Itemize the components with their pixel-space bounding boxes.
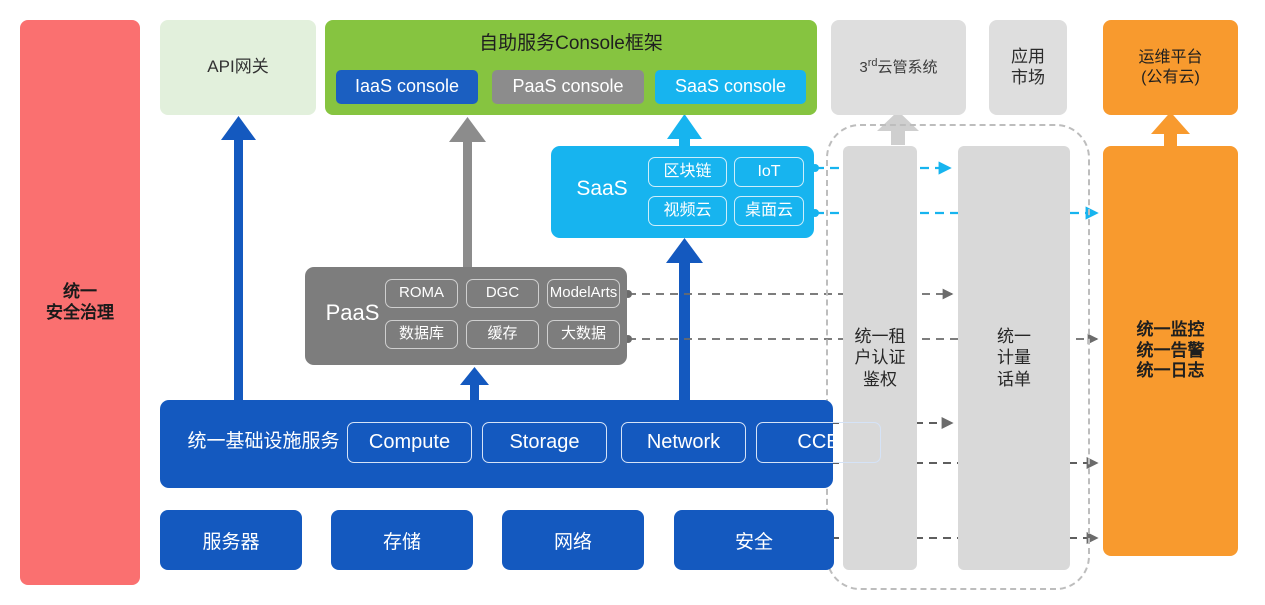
paas-chip-bigdata[interactable]: 大数据 — [547, 320, 620, 349]
unified-metering-label: 统一 计量 话单 — [997, 326, 1031, 390]
architecture-diagram: 统一 安全治理 API网关 自助服务Console框架 IaaS console… — [0, 0, 1265, 605]
unified-infrastructure-label: 统一基础设施服务 — [176, 430, 351, 453]
unified-tenant-auth-column: 统一租 户认证 鉴权 — [843, 146, 917, 570]
arrow-ops-tall-to-ops-top — [1151, 112, 1190, 146]
ops-platform-monitoring-panel: 统一监控 统一告警 统一日志 — [1103, 146, 1238, 556]
infra-chip-network[interactable]: Network — [621, 422, 746, 463]
paas-chip-roma[interactable]: ROMA — [385, 279, 458, 308]
third-party-cloud-label: 3rd云管系统 — [859, 57, 937, 77]
iaas-console-chip[interactable]: IaaS console — [336, 70, 478, 104]
infra-chip-storage[interactable]: Storage — [482, 422, 607, 463]
paas-chip-modelarts[interactable]: ModelArts — [547, 279, 620, 308]
unified-infrastructure-service-bar: 统一基础设施服务 Compute Storage Network CCE — [160, 400, 833, 488]
unified-tenant-auth-label: 统一租 户认证 鉴权 — [855, 326, 906, 390]
self-service-console-frame: 自助服务Console框架 IaaS console PaaS console … — [325, 20, 817, 115]
console-frame-title: 自助服务Console框架 — [325, 32, 817, 55]
app-market-box[interactable]: 应用 市场 — [989, 20, 1067, 115]
ops-platform-public-cloud-box[interactable]: 运维平台 (公有云) — [1103, 20, 1238, 115]
saas-chip-iot[interactable]: IoT — [734, 157, 804, 187]
app-market-label: 应用 市场 — [1011, 47, 1045, 88]
resource-box-network[interactable]: 网络 — [502, 510, 644, 570]
unified-security-governance-label: 统一 安全治理 — [46, 282, 114, 323]
infra-chip-cce[interactable]: CCE — [756, 422, 881, 463]
arrow-infra-to-saas — [666, 238, 703, 400]
ops-platform-tall-label: 统一监控 统一告警 统一日志 — [1137, 320, 1205, 382]
ops-platform-top-label: 运维平台 (公有云) — [1138, 48, 1202, 87]
resource-box-security[interactable]: 安全 — [674, 510, 834, 570]
saas-chip-blockchain[interactable]: 区块链 — [648, 157, 727, 187]
resource-box-server[interactable]: 服务器 — [160, 510, 302, 570]
api-gateway-label: API网关 — [207, 57, 268, 78]
paas-chip-cache[interactable]: 缓存 — [466, 320, 539, 349]
api-gateway-box[interactable]: API网关 — [160, 20, 316, 115]
arrow-paas-to-console — [449, 117, 486, 267]
saas-layer-label: SaaS — [563, 176, 641, 202]
infra-chip-compute[interactable]: Compute — [347, 422, 472, 463]
third-party-cloud-management-box[interactable]: 3rd云管系统 — [831, 20, 966, 115]
unified-security-governance-panel: 统一 安全治理 — [20, 20, 140, 585]
resource-box-storage[interactable]: 存储 — [331, 510, 473, 570]
saas-console-chip[interactable]: SaaS console — [655, 70, 806, 104]
paas-chip-dgc[interactable]: DGC — [466, 279, 539, 308]
paas-console-chip[interactable]: PaaS console — [492, 70, 644, 104]
saas-chip-video-cloud[interactable]: 视频云 — [648, 196, 727, 226]
arrow-infra-to-api-gateway — [221, 116, 256, 400]
saas-chip-desktop-cloud[interactable]: 桌面云 — [734, 196, 804, 226]
paas-chip-database[interactable]: 数据库 — [385, 320, 458, 349]
arrow-infra-to-paas — [460, 367, 489, 400]
paas-layer-label: PaaS — [315, 300, 390, 327]
unified-metering-column: 统一 计量 话单 — [958, 146, 1070, 570]
saas-layer-box: SaaS 区块链 IoT 视频云 桌面云 — [551, 146, 814, 238]
paas-layer-box: PaaS ROMA DGC ModelArts 数据库 缓存 大数据 — [305, 267, 627, 365]
